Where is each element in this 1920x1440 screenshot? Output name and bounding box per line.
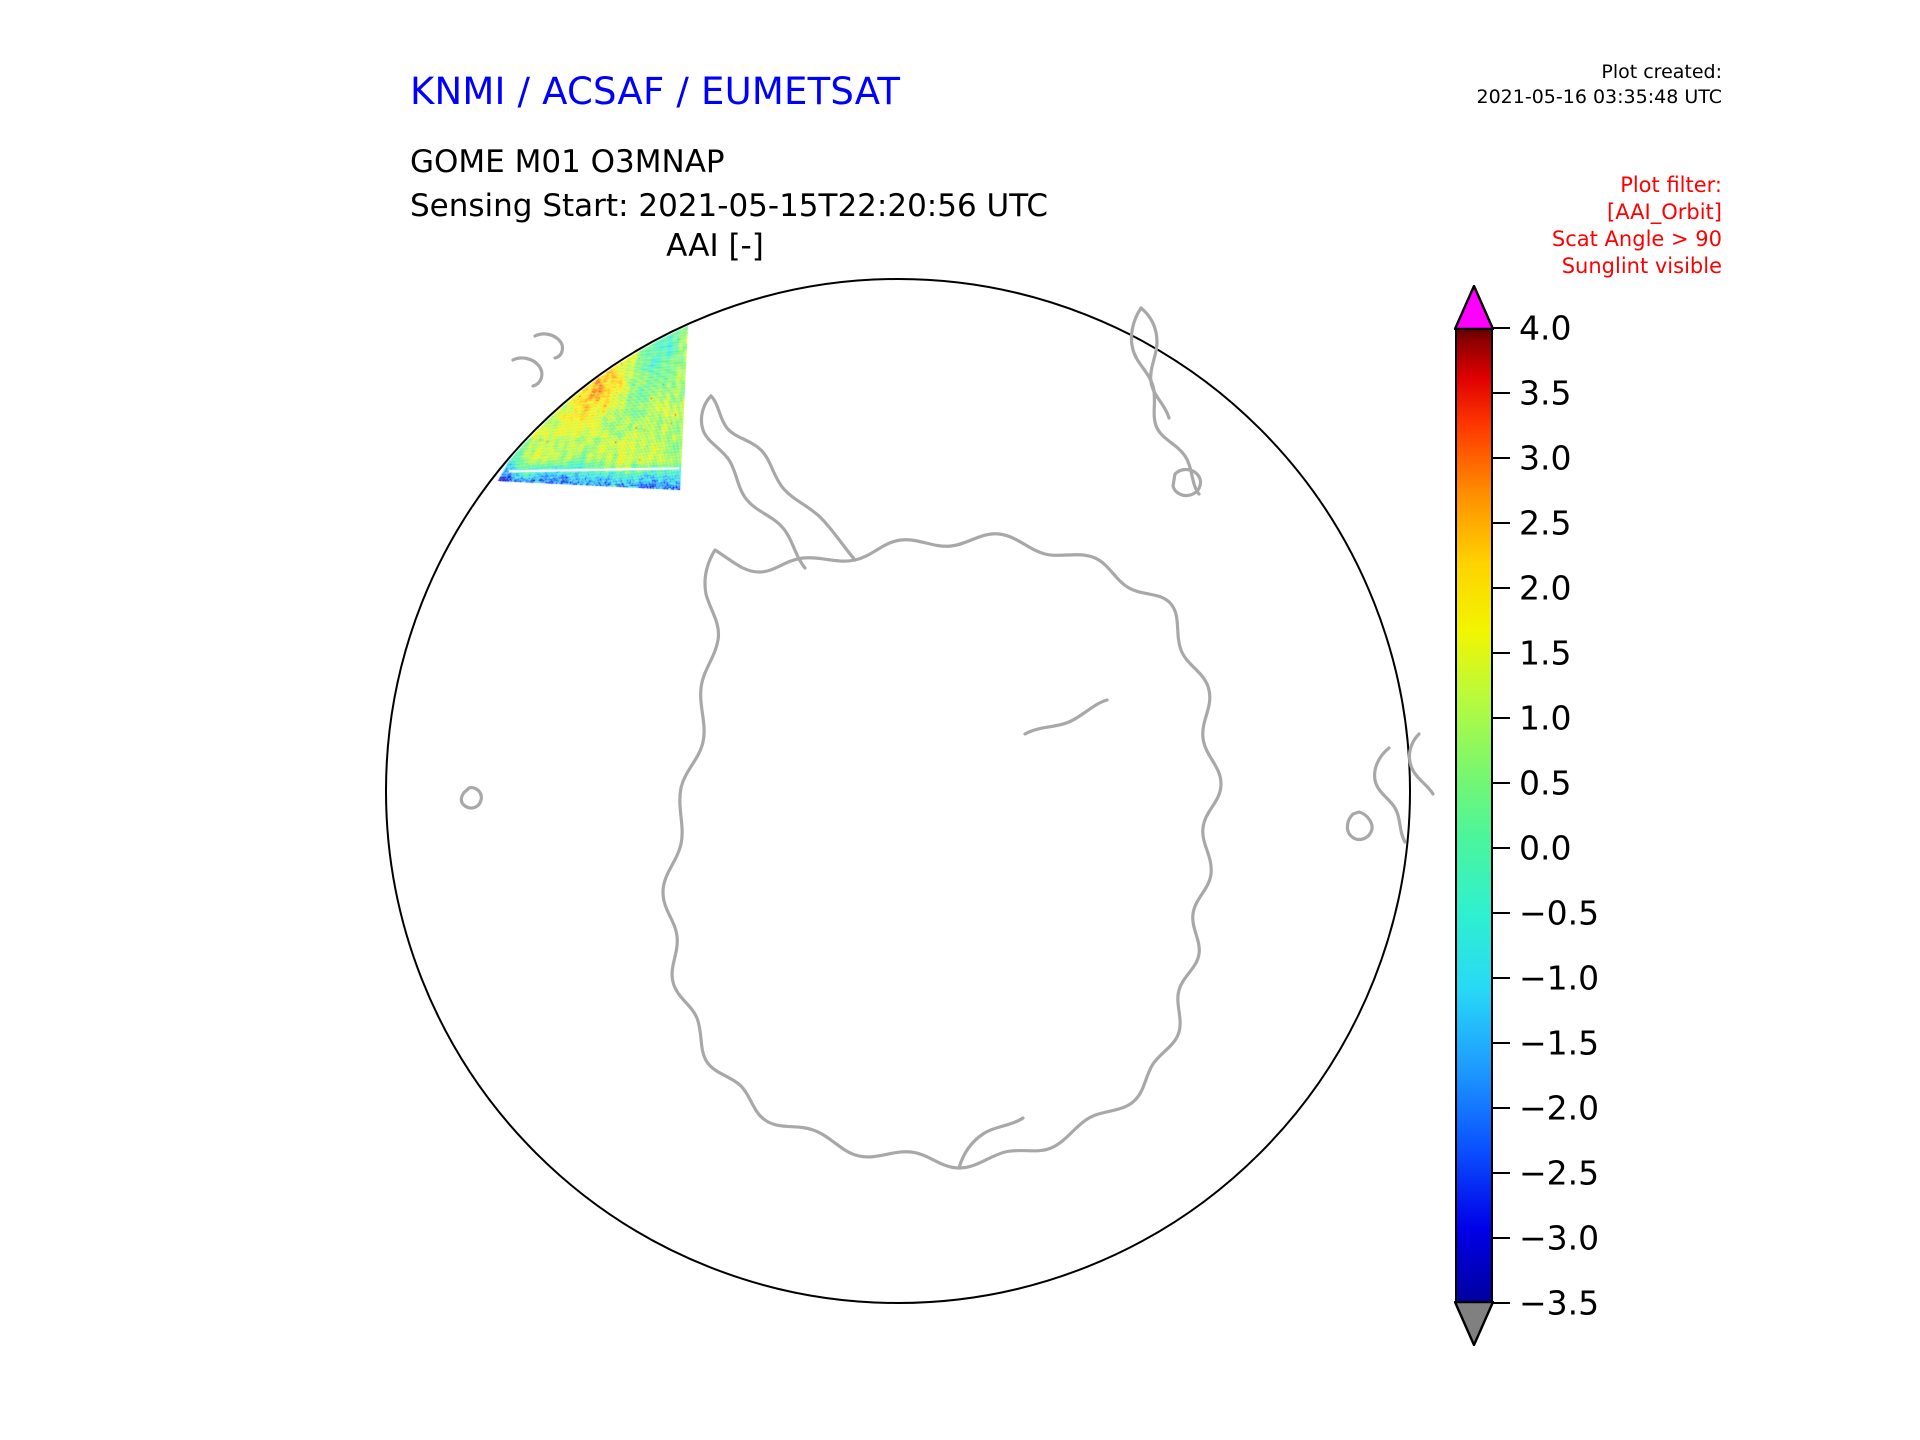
colorbar-tick-label: −1.0 (1519, 962, 1599, 995)
colorbar-tick (1493, 1107, 1510, 1110)
colorbar-tick-label: 3.0 (1519, 442, 1571, 475)
coastline-antarctica (663, 534, 1221, 1168)
plot-created-block: Plot created: 2021-05-16 03:35:48 UTC (1477, 60, 1723, 110)
colorbar-tick (1493, 847, 1510, 850)
colorbar-tick-label: −1.5 (1519, 1027, 1599, 1060)
colorbar-tick (1493, 327, 1510, 330)
colorbar-gradient (1455, 328, 1493, 1303)
brand-title: KNMI / ACSAF / EUMETSAT (410, 70, 900, 113)
plot-created-value: 2021-05-16 03:35:48 UTC (1477, 85, 1723, 110)
colorbar-tick-label: 1.5 (1519, 637, 1571, 670)
colorbar-tick (1493, 977, 1510, 980)
colorbar-tick (1493, 782, 1510, 785)
coastline-island-arc-2 (513, 358, 542, 386)
instrument-line: GOME M01 O3MNAP (410, 140, 1048, 184)
filter-line-orbit: [AAI_Orbit] (1552, 199, 1722, 226)
colorbar-tick (1493, 1042, 1510, 1045)
coastline-ross-sea (959, 1118, 1023, 1168)
coastline-island-tdf (1173, 470, 1200, 496)
colorbar-under-range-arrow (1454, 1301, 1494, 1346)
colorbar-tick-label: −0.5 (1519, 897, 1599, 930)
filter-line-title: Plot filter: (1552, 172, 1722, 199)
colorbar-tick (1493, 1302, 1510, 1305)
plot-created-label: Plot created: (1477, 60, 1723, 85)
colorbar-tick (1493, 457, 1510, 460)
coastline-tasmania (1347, 812, 1372, 839)
page-title: AAI [-] (0, 228, 1430, 264)
coastline-island-small (461, 788, 481, 808)
colorbar-tick (1493, 522, 1510, 525)
colorbar-tick (1493, 912, 1510, 915)
product-info-block: GOME M01 O3MNAP Sensing Start: 2021-05-1… (410, 140, 1048, 228)
colorbar-tick-label: 4.0 (1519, 312, 1571, 345)
coastline-peninsula-west (701, 396, 805, 568)
colorbar: 4.03.53.02.52.01.51.00.50.0−0.5−1.0−1.5−… (1455, 285, 1795, 1300)
colorbar-tick-label: −2.5 (1519, 1157, 1599, 1190)
colorbar-tick-label: 0.5 (1519, 767, 1571, 800)
colorbar-tick-label: 2.0 (1519, 572, 1571, 605)
filter-line-scat-angle: Scat Angle > 90 (1552, 226, 1722, 253)
colorbar-tick-label: 3.5 (1519, 377, 1571, 410)
sensing-start-line: Sensing Start: 2021-05-15T22:20:56 UTC (410, 184, 1048, 228)
colorbar-tick (1493, 392, 1510, 395)
colorbar-tick-label: −2.0 (1519, 1092, 1599, 1125)
colorbar-tick-label: 1.0 (1519, 702, 1571, 735)
coastline-layer (385, 278, 1415, 1308)
colorbar-tick-label: −3.5 (1519, 1287, 1599, 1320)
coastline-new-zealand-2 (1409, 734, 1433, 794)
colorbar-tick (1493, 587, 1510, 590)
coastline-new-zealand (1375, 748, 1405, 842)
plot-filter-block: Plot filter: [AAI_Orbit] Scat Angle > 90… (1552, 172, 1722, 280)
colorbar-tick (1493, 1237, 1510, 1240)
coastline-south-america (1131, 308, 1199, 494)
coastline-island-arc-1 (535, 334, 562, 358)
colorbar-tick-label: 2.5 (1519, 507, 1571, 540)
colorbar-over-range-arrow (1454, 285, 1494, 330)
coastline-antarctic-peninsula (711, 396, 855, 560)
coastline-shelf-edge (1025, 700, 1107, 734)
filter-line-sunglint: Sunglint visible (1552, 253, 1722, 280)
map-plot-area (385, 278, 1415, 1308)
colorbar-tick (1493, 717, 1510, 720)
colorbar-tick-label: −3.0 (1519, 1222, 1599, 1255)
colorbar-tick-label: 0.0 (1519, 832, 1571, 865)
colorbar-tick (1493, 1172, 1510, 1175)
colorbar-tick (1493, 652, 1510, 655)
